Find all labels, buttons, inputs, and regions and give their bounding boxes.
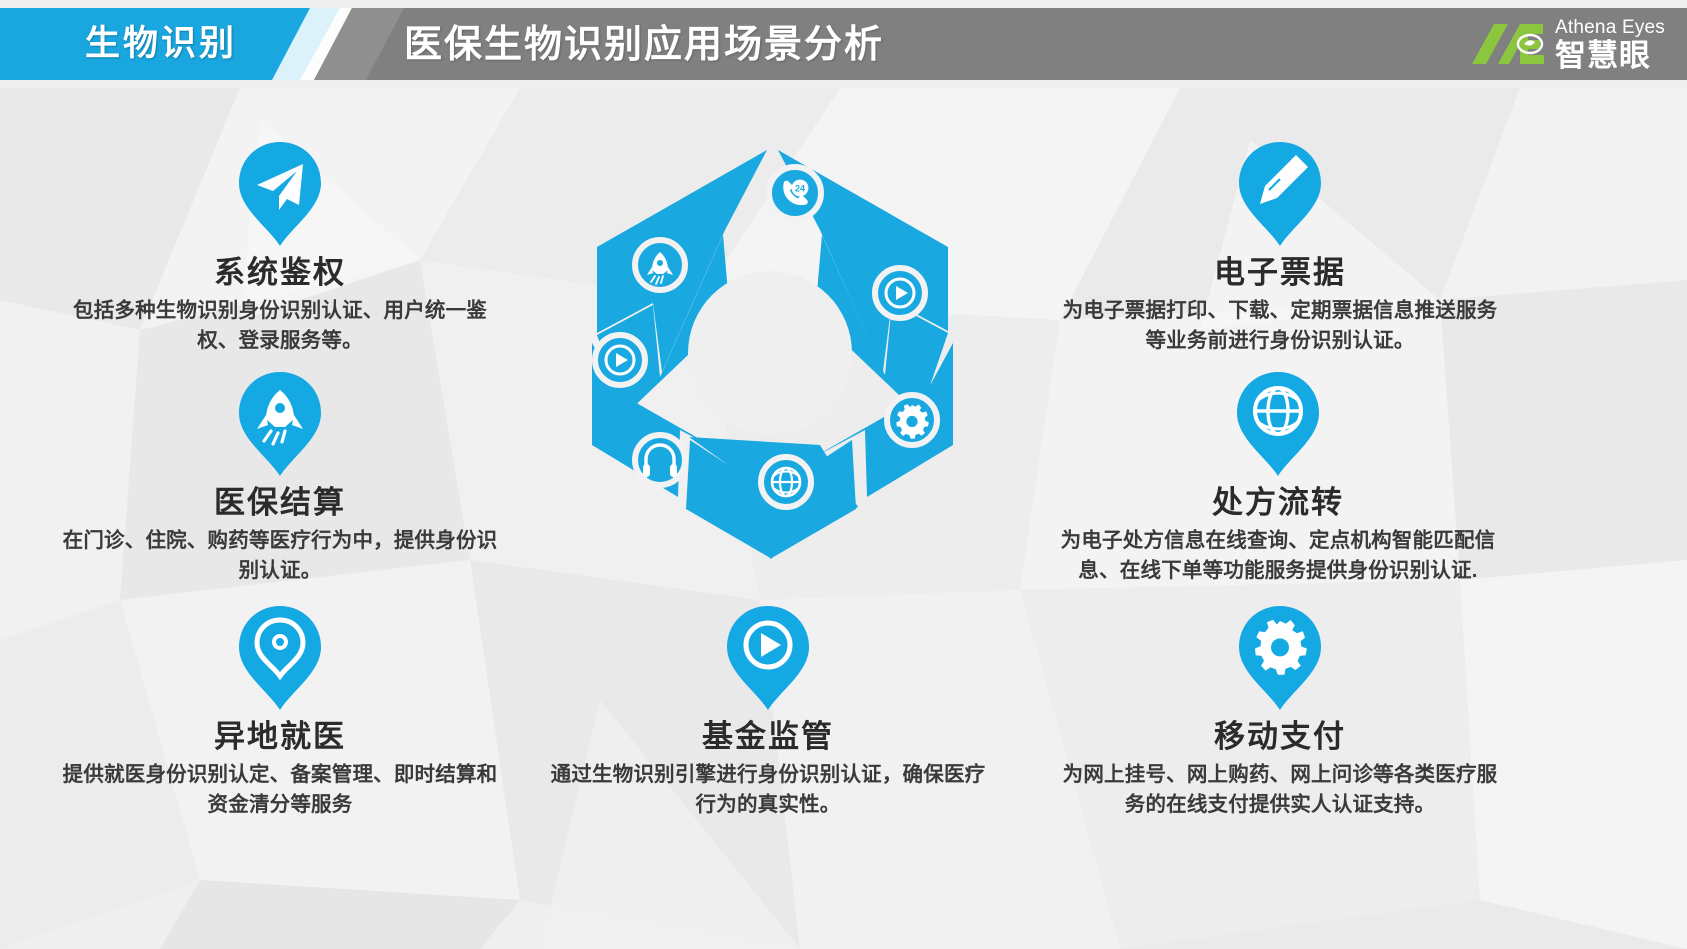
block-description: 包括多种生物识别身份识别认证、用户统一鉴权、登录服务等。 [60, 296, 500, 356]
globe-icon [1233, 368, 1323, 480]
gear-icon [1235, 602, 1325, 714]
scenario-block-mobile-payment: 移动支付 为网上挂号、网上购药、网上问诊等各类医疗服务的在线支付提供实人认证支持… [1055, 602, 1505, 820]
block-description: 为电子票据打印、下载、定期票据信息推送服务等业务前进行身份识别认证。 [1055, 296, 1505, 356]
map-pin-location-icon [235, 602, 325, 714]
pin-wrap [60, 138, 500, 250]
block-title: 系统鉴权 [60, 254, 500, 292]
scenario-block-fund-supervision: 基金监管 通过生物识别引擎进行身份识别认证，确保医疗行为的真实性。 [548, 602, 988, 820]
pinwheel-node-gear [887, 395, 937, 445]
scenario-block-prescription-flow: 处方流转 为电子处方信息在线查询、定点机构智能匹配信息、在线下单等功能服务提供身… [1043, 368, 1513, 586]
pencil-icon [1235, 138, 1325, 250]
pinwheel-node-play-right [875, 268, 925, 318]
block-description: 提供就医身份识别认定、备案管理、即时结算和资金清分等服务 [60, 760, 500, 820]
block-title: 处方流转 [1043, 484, 1513, 522]
brand-name-en: Athena Eyes [1555, 18, 1665, 37]
block-description: 为网上挂号、网上购药、网上问诊等各类医疗服务的在线支付提供实人认证支持。 [1055, 760, 1505, 820]
brand-text: Athena Eyes 智慧眼 [1555, 18, 1665, 71]
block-description: 通过生物识别引擎进行身份识别认证，确保医疗行为的真实性。 [548, 760, 988, 820]
pinwheel-node-headphones [635, 435, 685, 485]
paper-plane-icon [235, 138, 325, 250]
pin-wrap [1055, 602, 1505, 714]
pinwheel-node-rocket [635, 240, 685, 290]
scenario-block-remote-care: 异地就医 提供就医身份识别认定、备案管理、即时结算和资金清分等服务 [60, 602, 500, 820]
slide-canvas: 生物识别 医保生物识别应用场景分析 Athena Eyes 智慧眼 [0, 0, 1687, 949]
block-description: 为电子处方信息在线查询、定点机构智能匹配信息、在线下单等功能服务提供身份识别认证… [1043, 526, 1513, 586]
play-circle-icon [723, 602, 813, 714]
block-title: 电子票据 [1055, 254, 1505, 292]
hexagon-pinwheel-diagram: 24 [520, 115, 1020, 585]
block-description: 在门诊、住院、购药等医疗行为中，提供身份识别认证。 [60, 526, 500, 586]
pin-wrap [1055, 138, 1505, 250]
pinwheel-center-hole [688, 271, 852, 435]
block-title: 基金监管 [548, 718, 988, 756]
page-title: 医保生物识别应用场景分析 [404, 20, 884, 70]
rocket-icon [235, 368, 325, 480]
slide-header: 生物识别 医保生物识别应用场景分析 Athena Eyes 智慧眼 [0, 0, 1687, 88]
pin-wrap [548, 602, 988, 714]
athena-eyes-logo-icon [1468, 20, 1546, 68]
pinwheel-node-play-left [595, 335, 645, 385]
pin-wrap [60, 602, 500, 714]
scenario-block-settlement: 医保结算 在门诊、住院、购药等医疗行为中，提供身份识别认证。 [60, 368, 500, 586]
pin-wrap [60, 368, 500, 480]
block-title: 异地就医 [60, 718, 500, 756]
scenario-block-e-invoice: 电子票据 为电子票据打印、下载、定期票据信息推送服务等业务前进行身份识别认证。 [1055, 138, 1505, 356]
header-tag-label: 生物识别 [36, 22, 286, 66]
scenario-block-auth: 系统鉴权 包括多种生物识别身份识别认证、用户统一鉴权、登录服务等。 [60, 138, 500, 356]
brand-name-cn: 智慧眼 [1555, 40, 1665, 71]
block-title: 移动支付 [1055, 718, 1505, 756]
pin-wrap [1043, 368, 1513, 480]
brand-logo: Athena Eyes 智慧眼 [1468, 14, 1665, 74]
block-title: 医保结算 [60, 484, 500, 522]
pinwheel-node-support [769, 167, 821, 219]
pinwheel-node-globe [761, 457, 811, 507]
